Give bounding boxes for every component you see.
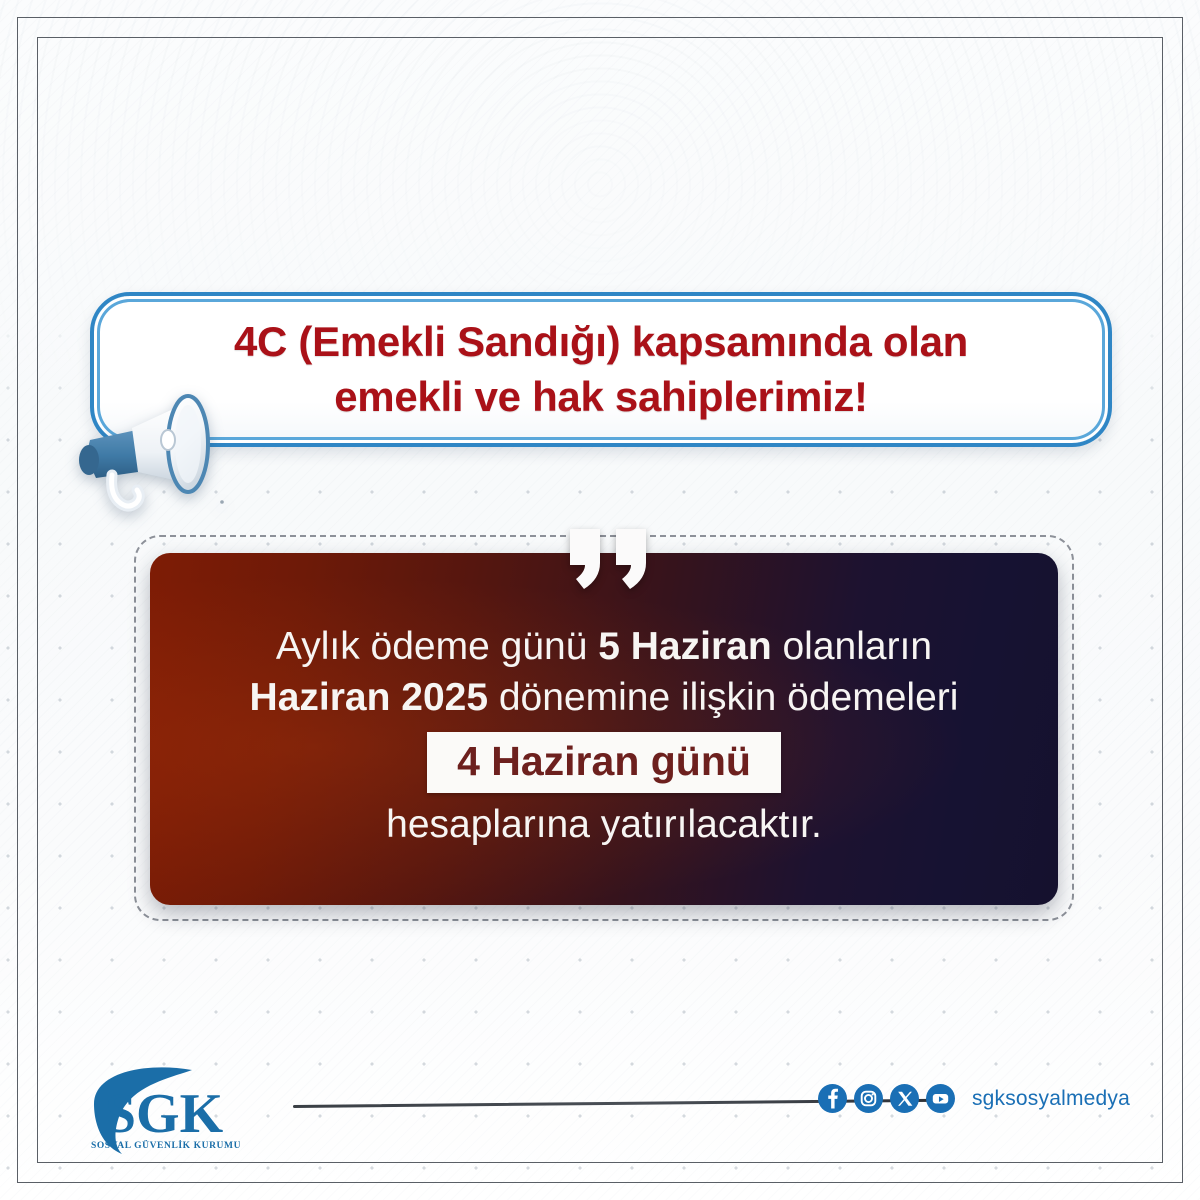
quote-line-1-bold: 5 Haziran: [598, 625, 771, 668]
quotation-mark-icon: [566, 527, 658, 593]
sgk-logo: SGK SOSYAL GÜVENLİK KURUMU: [88, 1062, 240, 1154]
megaphone-icon: [72, 378, 252, 513]
quote-line-2: Haziran 2025 dönemine ilişkin ödemeleri: [250, 675, 959, 721]
x-twitter-icon[interactable]: [890, 1084, 919, 1113]
instagram-icon[interactable]: [854, 1084, 883, 1113]
quote-highlight-line: 4 Haziran günü: [427, 726, 781, 797]
facebook-icon[interactable]: [818, 1084, 847, 1113]
quote-line-4: hesaplarına yatırılacaktır.: [386, 802, 822, 848]
headline-line-1: 4C (Emekli Sandığı) kapsamında olan: [234, 315, 968, 370]
youtube-icon[interactable]: [926, 1084, 955, 1113]
quote-line-1-pre: Aylık ödeme günü: [276, 625, 598, 668]
poster-canvas: 4C (Emekli Sandığı) kapsamında olan emek…: [0, 0, 1200, 1200]
quote-line-1: Aylık ödeme günü 5 Haziran olanların: [276, 624, 932, 670]
quote-line-2-post: dönemine ilişkin ödemeleri: [488, 676, 958, 719]
footer: SGK SOSYAL GÜVENLİK KURUMU: [88, 1058, 1130, 1158]
quote-line-2-bold: Haziran 2025: [250, 676, 488, 719]
headline-line-2: emekli ve hak sahiplerimiz!: [334, 370, 868, 425]
social-handle-label: sgksosyalmedya: [972, 1087, 1130, 1111]
sgk-logo-mark: SGK: [105, 1083, 224, 1145]
quote-text-block: Aylık ödeme günü 5 Haziran olanların Haz…: [150, 553, 1058, 905]
social-links[interactable]: sgksosyalmedya: [818, 1084, 1130, 1113]
quote-line-1-post: olanların: [772, 625, 932, 668]
highlight-date-badge: 4 Haziran günü: [427, 732, 781, 793]
